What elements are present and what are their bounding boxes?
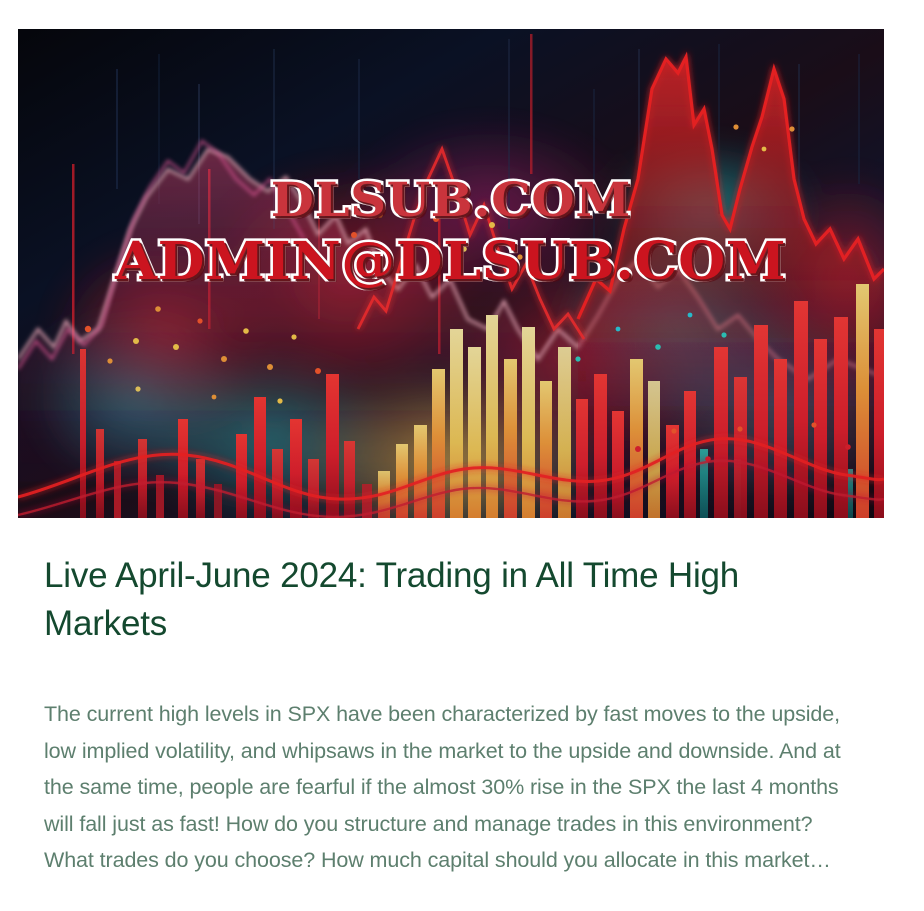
hero-image[interactable]: DLSUB.COM ADMIN@DLSUB.COM	[18, 29, 884, 518]
trading-chart-graphic	[18, 29, 884, 518]
post-content: Live April-June 2024: Trading in All Tim…	[44, 552, 856, 879]
post-card: DLSUB.COM ADMIN@DLSUB.COM Live April-Jun…	[0, 0, 924, 911]
post-excerpt: The current high levels in SPX have been…	[44, 696, 844, 879]
post-title[interactable]: Live April-June 2024: Trading in All Tim…	[44, 552, 852, 648]
